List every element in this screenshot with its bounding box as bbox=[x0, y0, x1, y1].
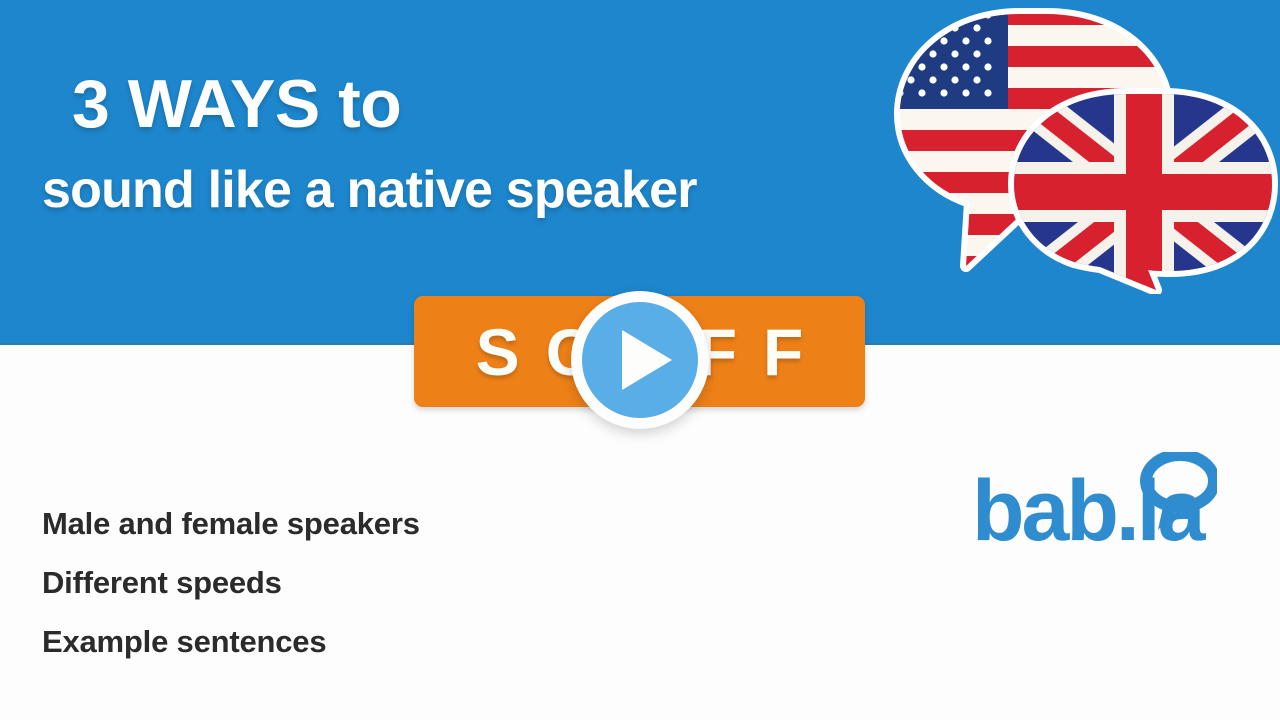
uk-flag-bubble bbox=[1006, 84, 1280, 294]
play-button-circle bbox=[582, 302, 698, 418]
play-icon bbox=[622, 330, 672, 390]
feature-list: Male and female speakers Different speed… bbox=[42, 494, 742, 671]
flag-speech-bubbles bbox=[886, 4, 1280, 294]
video-thumbnail-stage: 3 WAYS to sound like a native speaker bbox=[0, 0, 1280, 720]
headline-secondary: sound like a native speaker bbox=[42, 164, 892, 216]
headline-block: 3 WAYS to sound like a native speaker bbox=[72, 70, 892, 216]
list-item: Example sentences bbox=[42, 612, 742, 671]
play-button[interactable] bbox=[571, 291, 709, 429]
list-item: Male and female speakers bbox=[42, 494, 742, 553]
babla-logo: bab.la bbox=[972, 452, 1217, 560]
headline-primary: 3 WAYS to bbox=[72, 70, 892, 138]
list-item: Different speeds bbox=[42, 553, 742, 612]
